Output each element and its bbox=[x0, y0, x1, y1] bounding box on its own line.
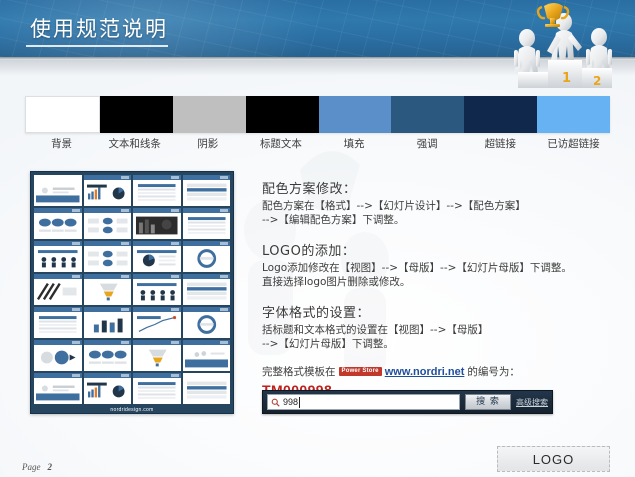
color-swatch-label: 阴影 bbox=[171, 136, 244, 152]
page-number-value: 2 bbox=[48, 462, 53, 472]
thumbnail-content bbox=[135, 248, 179, 269]
svg-text:1: 1 bbox=[562, 71, 571, 86]
search-icon bbox=[271, 398, 280, 407]
page-title: 使用规范说明 bbox=[30, 13, 168, 43]
color-scheme-labels: 背景文本和线条阴影标题文本填充强调超链接已访超链接 bbox=[25, 136, 610, 152]
thumbnail-titlebar bbox=[133, 274, 181, 279]
thumbnail-titlebar bbox=[133, 208, 181, 213]
title-underline bbox=[26, 45, 168, 47]
figure-right bbox=[586, 28, 612, 74]
slide-thumbnail[interactable] bbox=[84, 208, 132, 239]
color-swatch-label: 标题文本 bbox=[244, 136, 317, 152]
slide-thumbnail[interactable] bbox=[84, 241, 132, 272]
thumbnail-content bbox=[36, 215, 80, 236]
search-input-value: 998 bbox=[283, 397, 300, 408]
thumbnail-content bbox=[36, 314, 80, 335]
thumbnail-content bbox=[185, 281, 229, 302]
color-swatch-label: 超链接 bbox=[464, 136, 537, 152]
figure-left bbox=[514, 29, 540, 76]
instruction-line: -->【编辑配色方案】下调整。 bbox=[262, 213, 622, 227]
color-swatch bbox=[319, 96, 392, 133]
thumbnail-titlebar bbox=[84, 340, 132, 345]
slide-thumbnail[interactable] bbox=[133, 241, 181, 272]
slide-thumbnail[interactable] bbox=[34, 340, 82, 371]
thumbnail-titlebar bbox=[133, 307, 181, 312]
thumbnail-content bbox=[36, 248, 80, 269]
thumbnail-content bbox=[86, 248, 130, 269]
color-swatch-label: 强调 bbox=[391, 136, 464, 152]
thumbnail-titlebar bbox=[183, 307, 231, 312]
slide-thumbnail[interactable] bbox=[183, 208, 231, 239]
thumbnail-content bbox=[185, 347, 229, 368]
thumbnail-content bbox=[86, 281, 130, 302]
podium-block-3 bbox=[518, 72, 548, 88]
thumbnail-titlebar bbox=[183, 274, 231, 279]
instructions-column: 配色方案修改：配色方案在【格式】-->【幻灯片设计】-->【配色方案】-->【编… bbox=[262, 178, 622, 398]
thumbnail-content bbox=[86, 380, 130, 401]
color-swatch bbox=[537, 96, 610, 133]
thumbnail-content bbox=[86, 215, 130, 236]
thumbnail-content bbox=[135, 281, 179, 302]
color-swatch-label: 文本和线条 bbox=[98, 136, 171, 152]
thumbnail-titlebar bbox=[133, 340, 181, 345]
thumbnail-titlebar bbox=[133, 241, 181, 246]
thumbnail-content bbox=[36, 182, 80, 203]
page-label: Page bbox=[22, 462, 41, 472]
instruction-block: LOGO的添加：Logo添加修改在【视图】-->【母版】-->【幻灯片母版】下调… bbox=[262, 240, 622, 289]
slide-thumbnail[interactable] bbox=[183, 274, 231, 305]
svg-text:2: 2 bbox=[593, 74, 601, 88]
slide-thumbnail[interactable] bbox=[183, 241, 231, 272]
slide-thumbnail[interactable] bbox=[34, 307, 82, 338]
slide-thumbnail[interactable] bbox=[84, 340, 132, 371]
slide-thumbnail[interactable] bbox=[133, 373, 181, 404]
thumbnail-content bbox=[185, 248, 229, 269]
thumbnail-content bbox=[135, 380, 179, 401]
thumbnail-titlebar bbox=[133, 373, 181, 378]
slide-thumbnail[interactable] bbox=[34, 373, 82, 404]
color-swatch bbox=[25, 96, 100, 133]
thumbnail-titlebar bbox=[34, 373, 82, 378]
search-button[interactable]: 搜 索 bbox=[465, 394, 511, 410]
thumbnail-content bbox=[86, 314, 130, 335]
color-swatch-label: 填充 bbox=[318, 136, 391, 152]
instruction-line: -->【幻灯片母版】下调整。 bbox=[262, 337, 622, 351]
thumbnail-content bbox=[135, 314, 179, 335]
slide-thumbnail[interactable] bbox=[133, 208, 181, 239]
slide-thumbnail[interactable] bbox=[133, 175, 181, 206]
color-swatch-label: 背景 bbox=[25, 136, 98, 152]
thumbnail-titlebar bbox=[34, 274, 82, 279]
thumbnail-content bbox=[135, 182, 179, 203]
slide-thumbnail[interactable] bbox=[183, 373, 231, 404]
page-number: Page2 bbox=[22, 462, 52, 472]
instruction-line: Logo添加修改在【视图】-->【母版】-->【幻灯片母版】下调整。 bbox=[262, 261, 622, 275]
thumbnail-grid-caption: nordridesign.com bbox=[34, 406, 230, 415]
slide-thumbnail[interactable] bbox=[34, 241, 82, 272]
thumbnail-titlebar bbox=[133, 175, 181, 180]
color-swatch bbox=[464, 96, 537, 133]
slide-thumbnail[interactable] bbox=[183, 340, 231, 371]
slide-thumbnail[interactable] bbox=[84, 274, 132, 305]
thumbnail-titlebar bbox=[84, 208, 132, 213]
slide-canvas: 使用规范说明 bbox=[0, 0, 635, 477]
slide-thumbnail[interactable] bbox=[183, 175, 231, 206]
instruction-line: 括标题和文本格式的设置在【视图】-->【母版】 bbox=[262, 323, 622, 337]
thumbnail-titlebar bbox=[84, 373, 132, 378]
slide-thumbnail[interactable] bbox=[34, 175, 82, 206]
thumbnail-content bbox=[135, 347, 179, 368]
slide-thumbnail[interactable] bbox=[84, 373, 132, 404]
slide-thumbnail[interactable] bbox=[84, 307, 132, 338]
thumbnail-titlebar bbox=[34, 208, 82, 213]
slide-thumbnail-panel: nordridesign.com bbox=[30, 171, 234, 414]
instruction-line: 直接选择logo图片删除或修改。 bbox=[262, 275, 622, 289]
thumbnail-content bbox=[86, 182, 130, 203]
template-ref-prefix: 完整格式模板在 bbox=[262, 364, 336, 379]
slide-thumbnail[interactable] bbox=[84, 175, 132, 206]
template-reference: 完整格式模板在Power Storewww.nordri.net的编号为： bbox=[262, 364, 622, 379]
slide-thumbnail[interactable] bbox=[133, 340, 181, 371]
instruction-block: 配色方案修改：配色方案在【格式】-->【幻灯片设计】-->【配色方案】-->【编… bbox=[262, 178, 622, 227]
instruction-block: 字体格式的设置：括标题和文本格式的设置在【视图】-->【母版】-->【幻灯片母版… bbox=[262, 302, 622, 351]
thumbnail-content bbox=[86, 347, 130, 368]
thumbnail-content bbox=[36, 380, 80, 401]
thumbnail-content bbox=[185, 215, 229, 236]
thumbnail-content bbox=[185, 182, 229, 203]
podium-illustration: 1 2 bbox=[492, 0, 635, 104]
instruction-heading: 字体格式的设置： bbox=[262, 302, 622, 321]
slide-thumbnail[interactable] bbox=[133, 274, 181, 305]
color-swatch bbox=[173, 96, 246, 133]
slide-thumbnail[interactable] bbox=[34, 274, 82, 305]
slide-thumbnail[interactable] bbox=[34, 208, 82, 239]
thumbnail-titlebar bbox=[84, 274, 132, 279]
thumbnail-titlebar bbox=[34, 241, 82, 246]
slide-thumbnail-grid bbox=[34, 175, 230, 404]
thumbnail-titlebar bbox=[34, 307, 82, 312]
color-swatch-label: 已访超链接 bbox=[537, 136, 610, 152]
thumbnail-titlebar bbox=[183, 340, 231, 345]
thumbnail-titlebar bbox=[183, 208, 231, 213]
instruction-line: 配色方案在【格式】-->【幻灯片设计】-->【配色方案】 bbox=[262, 199, 622, 213]
powerstore-logo: Power Store bbox=[339, 367, 382, 376]
thumbnail-content bbox=[36, 347, 80, 368]
slide-thumbnail[interactable] bbox=[183, 307, 231, 338]
thumbnail-content bbox=[185, 314, 229, 335]
logo-placeholder[interactable]: LOGO bbox=[497, 446, 610, 472]
thumbnail-titlebar bbox=[84, 307, 132, 312]
thumbnail-content bbox=[36, 281, 80, 302]
thumbnail-titlebar bbox=[183, 175, 231, 180]
color-scheme-swatches bbox=[25, 96, 610, 133]
advanced-search-link[interactable]: 高级搜索 bbox=[516, 397, 548, 408]
thumbnail-titlebar bbox=[84, 241, 132, 246]
color-swatch bbox=[246, 96, 319, 133]
thumbnail-titlebar bbox=[84, 175, 132, 180]
thumbnail-content bbox=[185, 380, 229, 401]
thumbnail-titlebar bbox=[34, 340, 82, 345]
thumbnail-titlebar bbox=[183, 241, 231, 246]
instruction-heading: 配色方案修改： bbox=[262, 178, 622, 197]
slide-thumbnail[interactable] bbox=[133, 307, 181, 338]
color-swatch bbox=[391, 96, 464, 133]
instruction-heading: LOGO的添加： bbox=[262, 240, 622, 259]
search-bar[interactable]: 998 搜 索 高级搜索 bbox=[262, 390, 553, 414]
search-input[interactable]: 998 bbox=[267, 394, 460, 410]
thumbnail-content bbox=[135, 215, 179, 236]
nordri-link[interactable]: www.nordri.net bbox=[385, 366, 465, 378]
color-swatch bbox=[100, 96, 173, 133]
template-ref-suffix: 的编号为： bbox=[467, 364, 520, 379]
